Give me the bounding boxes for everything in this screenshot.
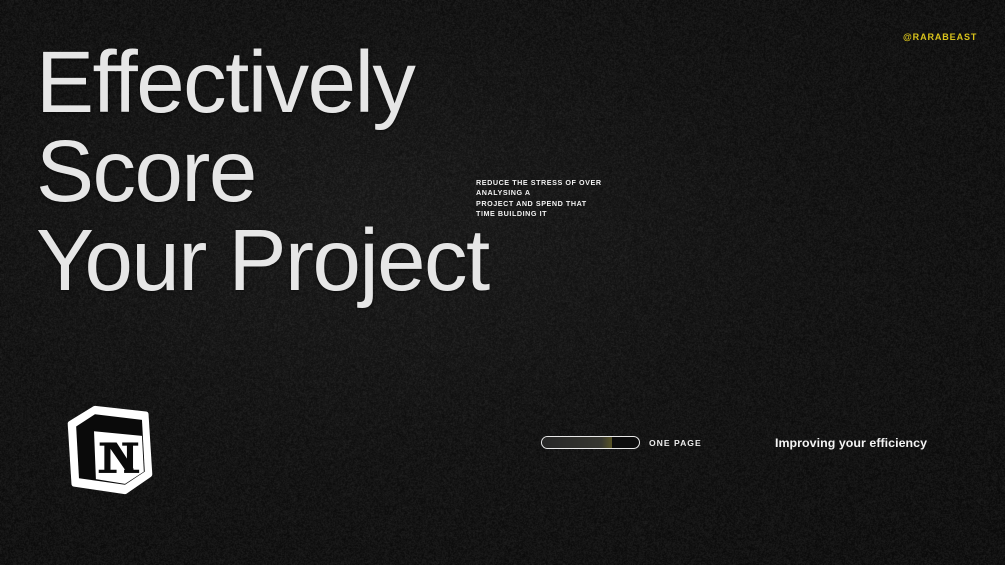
progress-indicator: ONE PAGE bbox=[541, 436, 702, 449]
headline-line-1: Effectively bbox=[36, 38, 489, 127]
headline-line-2: Score bbox=[36, 127, 489, 216]
progress-capsule[interactable] bbox=[541, 436, 640, 449]
progress-capsule-fill bbox=[542, 437, 612, 448]
blurb-line-4: TIME BUILDING IT bbox=[476, 209, 602, 219]
blurb-line-2: ANALYSING A bbox=[476, 188, 602, 198]
author-handle: @RARABEAST bbox=[903, 32, 977, 42]
subtitle-blurb: REDUCE THE STRESS OF OVER ANALYSING A PR… bbox=[476, 178, 602, 220]
progress-label: ONE PAGE bbox=[649, 438, 702, 448]
blurb-line-1: REDUCE THE STRESS OF OVER bbox=[476, 178, 602, 188]
tagline: Improving your efficiency bbox=[775, 436, 927, 450]
notion-logo-icon bbox=[63, 403, 157, 497]
slide-canvas: @RARABEAST Effectively Score Your Projec… bbox=[0, 0, 1005, 565]
headline-line-3: Your Project bbox=[36, 216, 489, 305]
page-title: Effectively Score Your Project bbox=[36, 38, 489, 305]
blurb-line-3: PROJECT AND SPEND THAT bbox=[476, 199, 602, 209]
